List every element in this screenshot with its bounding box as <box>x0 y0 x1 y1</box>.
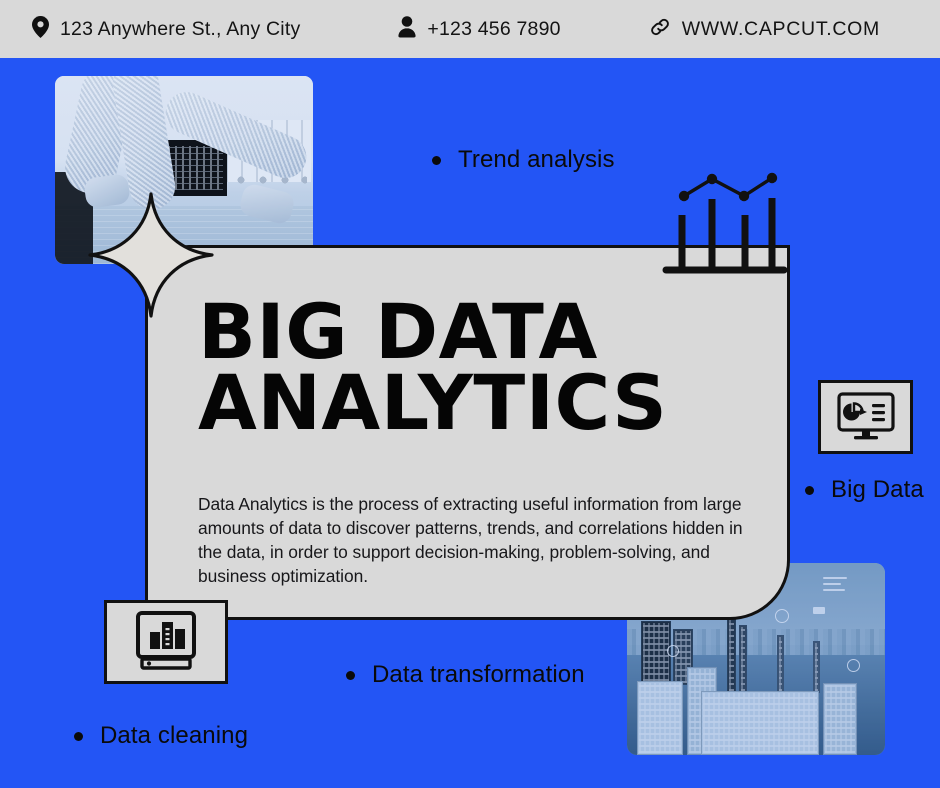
monitor-pie-chart-icon <box>818 380 913 454</box>
contact-header-bar: 123 Anywhere St., Any City +123 456 7890 <box>0 0 940 58</box>
bullet-label: Data cleaning <box>100 722 248 750</box>
bullet-label: Data transformation <box>372 661 585 689</box>
main-content-card: BIG DATA ANALYTICS Data Analytics is the… <box>145 245 790 620</box>
bullet-item-big-data: Big Data <box>805 476 924 504</box>
bullet-dot-icon <box>74 732 83 741</box>
line-bar-chart-icon <box>660 158 800 286</box>
link-icon <box>649 16 671 43</box>
header-address-text: 123 Anywhere St., Any City <box>60 18 300 41</box>
bullet-dot-icon <box>805 486 814 495</box>
header-address: 123 Anywhere St., Any City <box>32 16 300 43</box>
header-website: WWW.CAPCUT.COM <box>649 16 880 43</box>
title-line-1: BIG DATA <box>198 296 758 367</box>
bullet-item-data-transformation: Data transformation <box>346 661 585 689</box>
bullet-dot-icon <box>432 156 441 165</box>
bullet-label: Big Data <box>831 476 924 504</box>
bullet-label: Trend analysis <box>458 146 615 174</box>
title-line-2: ANALYTICS <box>198 367 758 438</box>
header-phone: +123 456 7890 <box>398 16 560 43</box>
header-website-text: WWW.CAPCUT.COM <box>682 18 880 41</box>
location-pin-icon <box>32 16 49 43</box>
tablet-bar-chart-icon <box>104 600 228 684</box>
four-point-sparkle-icon <box>88 192 214 318</box>
poster-canvas: 123 Anywhere St., Any City +123 456 7890 <box>0 0 940 788</box>
bullet-item-data-cleaning: Data cleaning <box>74 722 248 750</box>
bullet-item-trend-analysis: Trend analysis <box>432 146 615 174</box>
person-icon <box>398 16 416 43</box>
body-paragraph: Data Analytics is the process of extract… <box>198 493 750 588</box>
page-title: BIG DATA ANALYTICS <box>198 296 758 439</box>
header-phone-text: +123 456 7890 <box>427 18 560 41</box>
bullet-dot-icon <box>346 671 355 680</box>
